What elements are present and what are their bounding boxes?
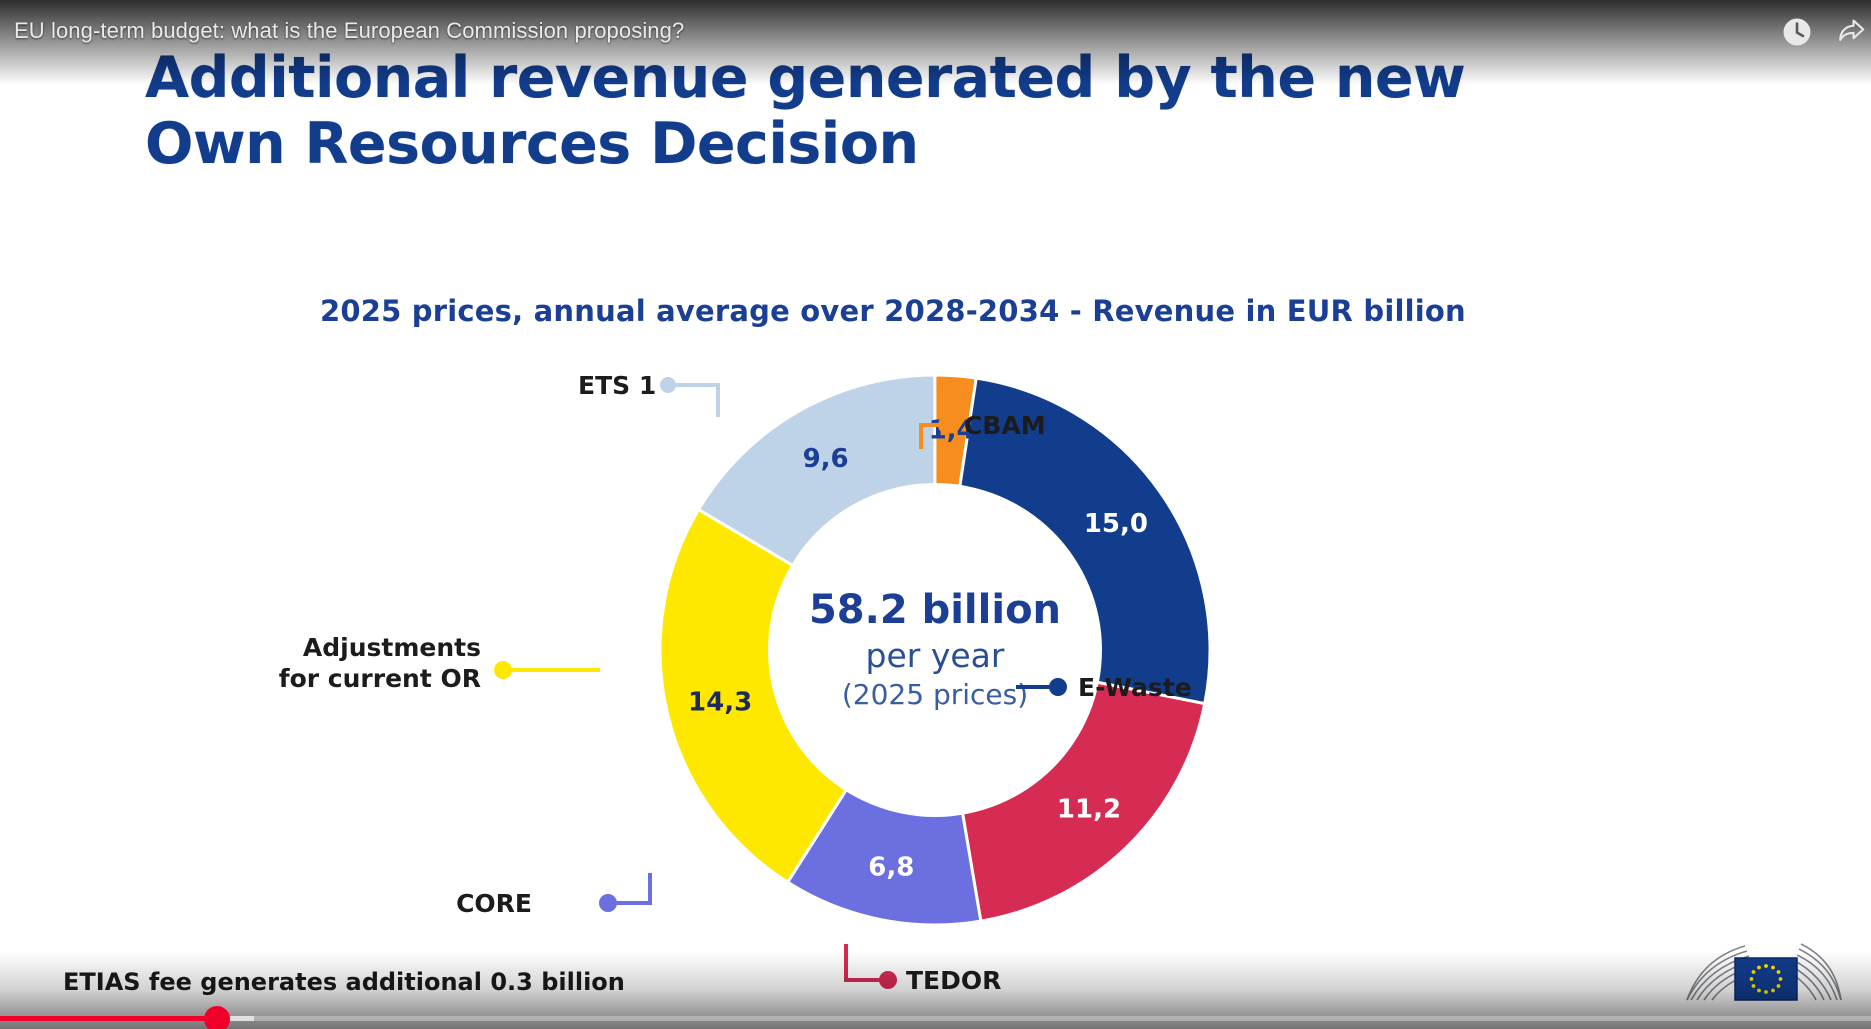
watch-later-button[interactable] <box>1773 8 1821 56</box>
progress-bar[interactable] <box>0 1016 1871 1021</box>
slide-footnote: ETIAS fee generates additional 0.3 billi… <box>63 968 625 996</box>
callout-label-tedor: TEDOR <box>906 966 1001 997</box>
slice-value-adjustments: 14,3 <box>688 687 752 717</box>
leader-tedor <box>846 944 897 989</box>
slice-value-tedor: 11,2 <box>1057 795 1121 825</box>
callout-label-ets-1: ETS 1 <box>578 371 656 402</box>
slice-value-ets-1: 9,6 <box>803 444 849 474</box>
donut-hole <box>768 483 1102 817</box>
slice-value-core: 6,8 <box>868 853 914 883</box>
donut-svg: 9,61,415,011,26,814,3 <box>635 350 1235 950</box>
slide-title: Additional revenue generated by the new … <box>145 45 1595 177</box>
share-button[interactable] <box>1835 8 1865 56</box>
callout-label-cbam: CBAM <box>964 411 1046 442</box>
callout-label-adjustments-line2: for current OR <box>279 664 481 695</box>
slide-content: Additional revenue generated by the new … <box>0 0 1871 1020</box>
slice-value-e-waste: 15,0 <box>1084 509 1148 539</box>
video-title[interactable]: EU long-term budget: what is the Europea… <box>14 18 684 44</box>
clock-icon <box>1780 15 1814 49</box>
chart-subtitle: 2025 prices, annual average over 2028-20… <box>320 294 1466 328</box>
share-icon <box>1835 15 1865 49</box>
progress-played <box>0 1016 217 1021</box>
callout-label-e-waste: E-Waste <box>1078 673 1192 704</box>
donut-chart: 9,61,415,011,26,814,3 <box>635 350 1235 950</box>
callout-label-adjustments-line1: Adjustments <box>279 633 481 664</box>
callout-label-core: CORE <box>456 889 532 920</box>
top-right-controls <box>1773 8 1865 56</box>
leader-adjustments <box>494 661 600 679</box>
callout-label-adjustments: Adjustments for current OR <box>279 633 481 694</box>
video-player[interactable]: Additional revenue generated by the new … <box>0 0 1871 1029</box>
progress-scrubber-handle[interactable] <box>204 1006 230 1029</box>
european-commission-logo <box>1679 938 1849 1008</box>
